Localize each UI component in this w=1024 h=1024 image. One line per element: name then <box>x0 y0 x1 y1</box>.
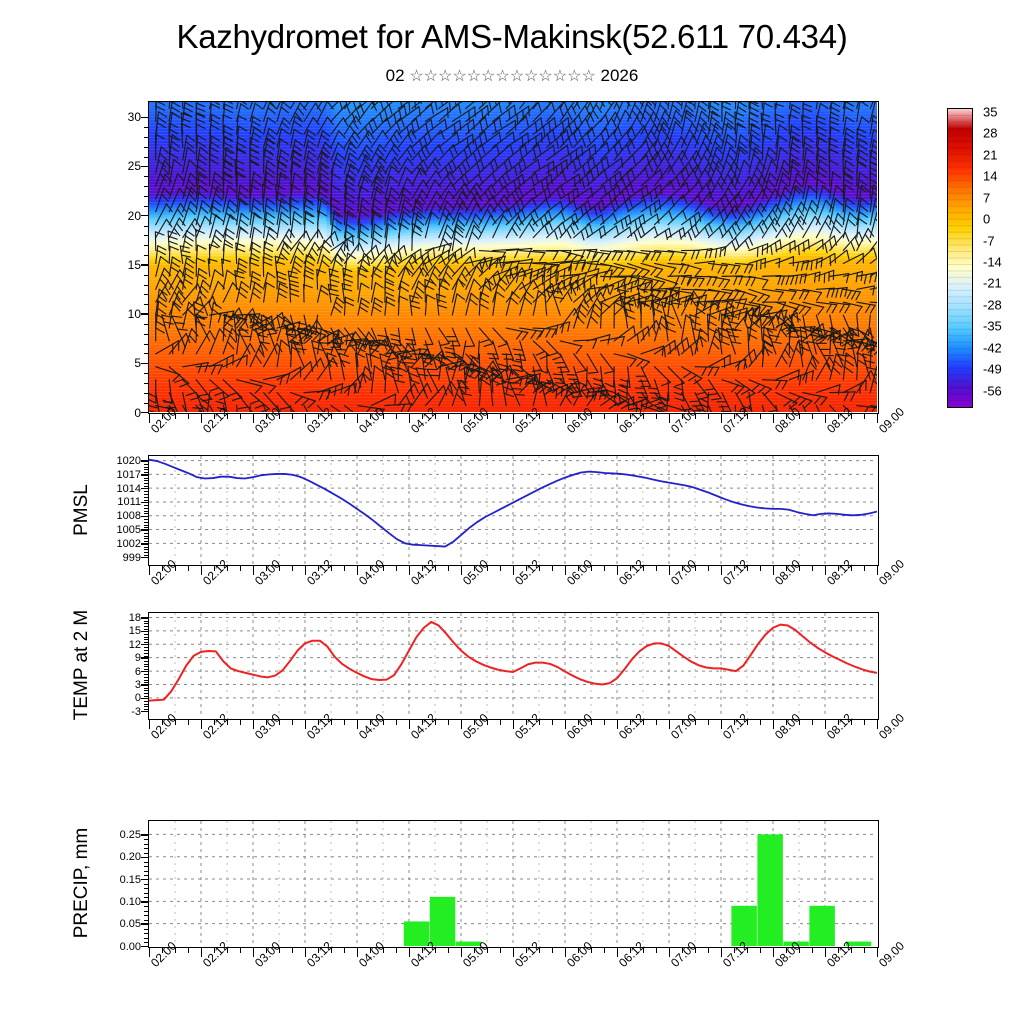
axis-tick <box>877 948 878 957</box>
axis-minor-tick <box>144 897 148 898</box>
axis-minor-tick <box>578 948 579 953</box>
axis-tick <box>201 948 202 957</box>
axis-minor-tick <box>144 848 148 849</box>
axis-minor-tick <box>695 948 696 953</box>
axis-minor-tick <box>396 948 397 953</box>
axis-minor-tick <box>144 929 148 930</box>
axis-tick <box>617 948 618 957</box>
axis-minor-tick <box>422 948 423 953</box>
axis-tick <box>409 948 410 957</box>
axis-minor-tick <box>474 948 475 953</box>
axis-tick <box>669 948 670 957</box>
axis-minor-tick <box>734 948 735 953</box>
plot-frame <box>148 820 879 948</box>
axis-minor-tick <box>162 948 163 953</box>
axis-minor-tick <box>266 948 267 953</box>
axis-minor-tick <box>144 844 148 845</box>
axis-minor-tick <box>144 911 148 912</box>
axis-minor-tick <box>435 948 436 953</box>
axis-tick-label: 0.10 <box>120 896 141 908</box>
axis-tick <box>825 948 826 957</box>
axis-minor-tick <box>144 862 148 863</box>
axis-tick <box>721 948 722 957</box>
axis-tick <box>149 948 150 957</box>
axis-minor-tick <box>144 866 148 867</box>
axis-minor-tick <box>708 948 709 953</box>
axis-tick-label: 0.20 <box>120 851 141 863</box>
axis-tick <box>253 948 254 957</box>
axis-minor-tick <box>279 948 280 953</box>
axis-tick-label: 09.00 <box>876 939 907 970</box>
axis-minor-tick <box>812 948 813 953</box>
axis-minor-tick <box>144 915 148 916</box>
precip-bar <box>757 834 782 946</box>
axis-minor-tick <box>188 948 189 953</box>
axis-tick <box>565 948 566 957</box>
forecast-meteogram-page: Kazhydromet for AMS-Makinsk(52.611 70.43… <box>0 0 1024 1024</box>
axis-minor-tick <box>643 948 644 953</box>
axis-minor-tick <box>799 948 800 953</box>
axis-minor-tick <box>292 948 293 953</box>
axis-tick <box>141 946 148 947</box>
axis-tick-label: 0.00 <box>120 941 141 953</box>
axis-minor-tick <box>786 948 787 953</box>
axis-tick-label: 0.15 <box>120 874 141 886</box>
axis-minor-tick <box>344 948 345 953</box>
axis-minor-tick <box>682 948 683 953</box>
axis-minor-tick <box>144 893 148 894</box>
axis-minor-tick <box>240 948 241 953</box>
axis-minor-tick <box>175 948 176 953</box>
axis-minor-tick <box>656 948 657 953</box>
axis-tick <box>141 901 148 902</box>
axis-minor-tick <box>144 888 148 889</box>
axis-minor-tick <box>318 948 319 953</box>
axis-minor-tick <box>747 948 748 953</box>
axis-minor-tick <box>144 906 148 907</box>
axis-tick <box>461 948 462 957</box>
precip-bar <box>731 906 756 946</box>
axis-tick-label: 0.25 <box>120 829 141 841</box>
axis-minor-tick <box>500 948 501 953</box>
axis-minor-tick <box>214 948 215 953</box>
axis-minor-tick <box>370 948 371 953</box>
axis-minor-tick <box>144 920 148 921</box>
axis-minor-tick <box>383 948 384 953</box>
axis-minor-tick <box>144 933 148 934</box>
precip-bar <box>430 897 455 946</box>
axis-minor-tick <box>630 948 631 953</box>
axis-minor-tick <box>604 948 605 953</box>
axis-minor-tick <box>760 948 761 953</box>
axis-minor-tick <box>144 853 148 854</box>
axis-tick <box>305 948 306 957</box>
axis-tick <box>773 948 774 957</box>
axis-minor-tick <box>552 948 553 953</box>
precip-panel: 0.000.050.100.150.200.2502.0002.1203.000… <box>0 0 1024 1024</box>
axis-minor-tick <box>526 948 527 953</box>
axis-tick <box>141 834 148 835</box>
axis-minor-tick <box>331 948 332 953</box>
axis-minor-tick <box>144 938 148 939</box>
axis-minor-tick <box>227 948 228 953</box>
axis-minor-tick <box>851 948 852 953</box>
axis-minor-tick <box>144 884 148 885</box>
axis-minor-tick <box>144 839 148 840</box>
axis-tick <box>141 923 148 924</box>
axis-tick-label: 0.05 <box>120 918 141 930</box>
axis-minor-tick <box>864 948 865 953</box>
precip-bars <box>404 834 871 946</box>
axis-tick <box>141 857 148 858</box>
axis-tick <box>141 879 148 880</box>
axis-minor-tick <box>591 948 592 953</box>
axis-tick <box>357 948 358 957</box>
axis-minor-tick <box>144 942 148 943</box>
axis-minor-tick <box>144 875 148 876</box>
axis-minor-tick <box>448 948 449 953</box>
axis-tick <box>513 948 514 957</box>
precip-bar <box>809 906 834 946</box>
axis-minor-tick <box>487 948 488 953</box>
axis-minor-tick <box>838 948 839 953</box>
axis-minor-tick <box>144 871 148 872</box>
axis-title: PRECIP, mm <box>71 783 93 983</box>
axis-minor-tick <box>539 948 540 953</box>
